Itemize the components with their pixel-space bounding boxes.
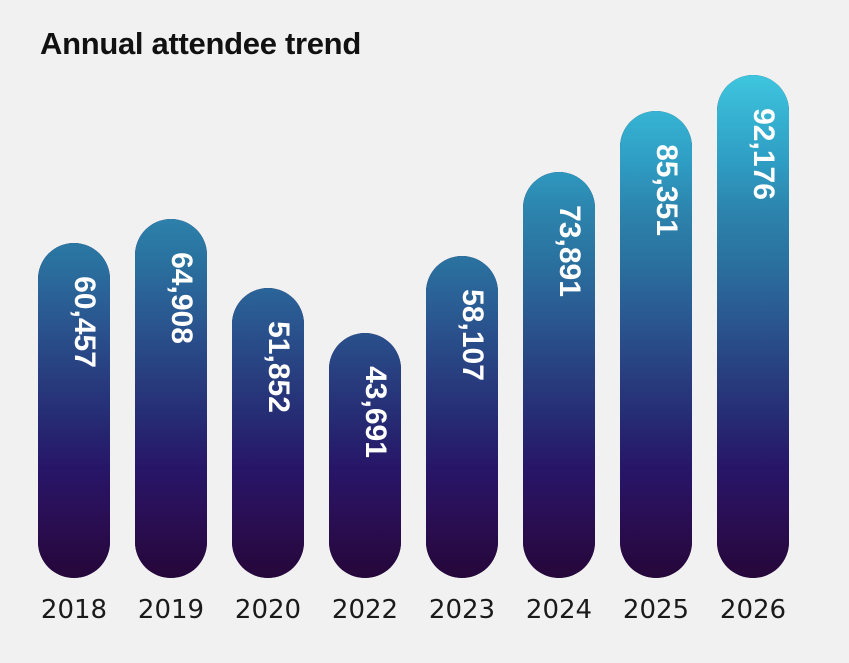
bar-value-text: 85,351 <box>649 144 683 236</box>
x-axis-tick-2022: 2022 <box>317 595 413 625</box>
bar-value-text: 92,176 <box>746 108 780 200</box>
bar-value-label: 58,107 <box>426 270 498 352</box>
bar-value-text: 43,691 <box>358 366 392 458</box>
bar-value-label: 60,457 <box>38 257 110 339</box>
bar-rect[interactable]: 73,891 <box>523 172 595 578</box>
bar-value-label: 92,176 <box>717 89 789 171</box>
bar-rect[interactable]: 92,176 <box>717 75 789 578</box>
bar-rect[interactable]: 60,457 <box>38 243 110 578</box>
bar-rect[interactable]: 58,107 <box>426 256 498 578</box>
bar-value-label: 73,891 <box>523 186 595 268</box>
bar-value-label: 43,691 <box>329 347 401 429</box>
bar-2025[interactable]: 85,351 <box>620 111 692 578</box>
x-axis-tick-2023: 2023 <box>414 595 510 625</box>
bar-2019[interactable]: 64,908 <box>135 219 207 578</box>
chart-container: Annual attendee trend 60,457201864,90820… <box>0 0 849 663</box>
x-axis-tick-2019: 2019 <box>123 595 219 625</box>
x-axis-tick-2024: 2024 <box>511 595 607 625</box>
x-axis-tick-2018: 2018 <box>26 595 122 625</box>
x-axis-tick-2025: 2025 <box>608 595 704 625</box>
bar-value-label: 85,351 <box>620 125 692 207</box>
bar-rect[interactable]: 51,852 <box>232 288 304 578</box>
bar-2018[interactable]: 60,457 <box>38 243 110 578</box>
bar-value-text: 60,457 <box>67 276 101 368</box>
bar-value-text: 64,908 <box>164 252 198 344</box>
bar-2023[interactable]: 58,107 <box>426 256 498 578</box>
bar-2024[interactable]: 73,891 <box>523 172 595 578</box>
bar-2022[interactable]: 43,691 <box>329 333 401 578</box>
bar-rect[interactable]: 85,351 <box>620 111 692 578</box>
bar-rect[interactable]: 64,908 <box>135 219 207 578</box>
bar-value-text: 58,107 <box>455 289 489 381</box>
plot-area: 60,457201864,908201951,852202043,6912022… <box>0 0 849 663</box>
x-axis-tick-2026: 2026 <box>705 595 801 625</box>
bar-value-text: 73,891 <box>552 205 586 297</box>
bar-rect[interactable]: 43,691 <box>329 333 401 578</box>
bar-value-label: 51,852 <box>232 302 304 384</box>
bar-value-text: 51,852 <box>261 321 295 413</box>
bar-value-label: 64,908 <box>135 233 207 315</box>
bar-2020[interactable]: 51,852 <box>232 288 304 578</box>
x-axis-tick-2020: 2020 <box>220 595 316 625</box>
bar-2026[interactable]: 92,176 <box>717 75 789 578</box>
